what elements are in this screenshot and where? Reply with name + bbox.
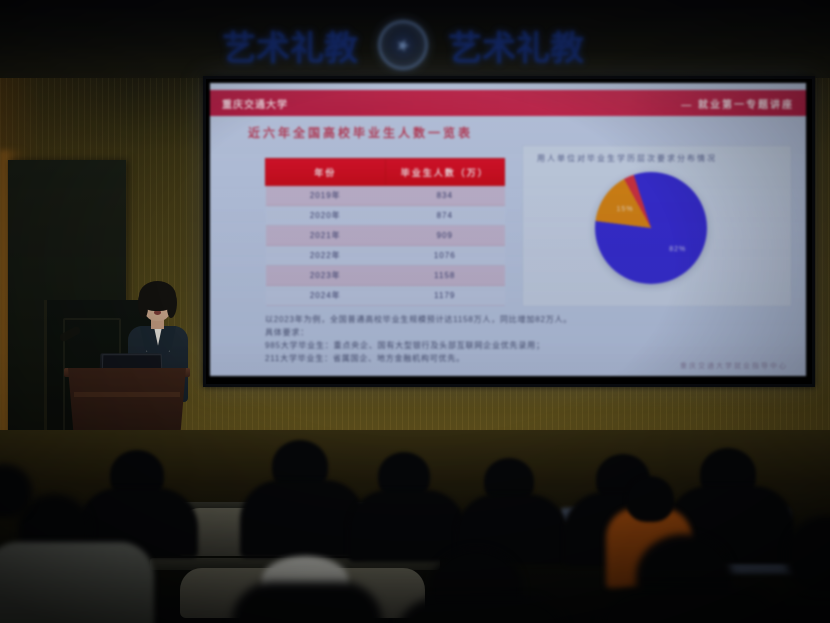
university-seal-icon: [378, 20, 428, 70]
table-row: 2021年 909: [266, 226, 505, 246]
wall-calligraphy: 艺术礼教 艺术礼教: [222, 14, 722, 76]
audience-grey-jacket: [0, 542, 154, 623]
audience-torso-foreground: [600, 588, 780, 623]
table-row: 2023年 1158: [266, 266, 505, 286]
cell-count: 1158: [385, 266, 505, 286]
audience-torso-foreground: [396, 598, 566, 623]
table-row: 2020年 874: [266, 206, 505, 226]
cell-year: 2021年: [266, 226, 386, 246]
speaker-hair-side-right: [167, 292, 177, 318]
cell-year: 2022年: [266, 246, 386, 266]
table-header-count: 毕业生人数（万）: [385, 159, 505, 186]
table-header-year: 年份: [266, 159, 386, 186]
cell-count: 1179: [385, 286, 505, 306]
audience-torso-foreground: [232, 582, 382, 623]
slide-body-text: 以2023年为例，全国普通高校毕业生规模预计达1158万人，同比增加82万人。 …: [265, 313, 765, 365]
table-body: 2019年 834 2020年 874 2021年 909 2022年 1076: [266, 186, 505, 306]
audience-head: [626, 476, 674, 522]
graduates-table: 年份 毕业生人数（万） 2019年 834 2020年 874 2021年: [265, 158, 505, 306]
pie-label-1: 15%: [617, 206, 634, 213]
cell-count: 1076: [385, 246, 505, 266]
pie-chart-title: 用人单位对毕业生学历层次要求分布情况: [537, 153, 717, 164]
cell-year: 2020年: [266, 206, 386, 226]
cell-count: 874: [385, 206, 505, 226]
pie-chart-panel: 用人单位对毕业生学历层次要求分布情况 82% 15%: [522, 145, 792, 307]
slide-banner: 重庆交通大学 — 就业第一专题讲座: [210, 90, 806, 116]
slide-banner-left-text: 重庆交通大学: [222, 96, 288, 111]
slide-footer: 重庆交通大学就业指导中心: [680, 361, 788, 371]
table-row: 2022年 1076: [266, 246, 505, 266]
speaker-hair-side-left: [138, 292, 148, 318]
cell-count: 834: [385, 186, 505, 206]
cell-year: 2024年: [266, 286, 386, 306]
audience-area: [0, 430, 830, 623]
slide-heading: 近六年全国高校毕业生人数一览表: [248, 124, 473, 141]
body-line-1: 以2023年为例，全国普通高校毕业生规模预计达1158万人，同比增加82万人。: [265, 313, 765, 326]
cell-year: 2023年: [266, 266, 386, 286]
slide-banner-right-text: — 就业第一专题讲座: [681, 96, 794, 111]
audience-torso: [240, 480, 365, 558]
table-header-row: 年份 毕业生人数（万）: [266, 159, 505, 186]
audience-torso: [348, 490, 466, 562]
calligraphy-right-text: 艺术礼教: [448, 21, 584, 70]
pie-label-0: 82%: [669, 246, 686, 253]
body-line-2: 具体要求：: [265, 326, 765, 339]
cell-year: 2019年: [266, 186, 386, 206]
body-line-3: 985大学毕业生：重点央企、国有大型银行及头部互联网企业优先录用；: [265, 339, 765, 352]
projection-screen: 重庆交通大学 — 就业第一专题讲座 近六年全国高校毕业生人数一览表 年份 毕业生…: [203, 76, 815, 387]
table-row: 2019年 834: [266, 186, 505, 206]
table-row: 2024年 1179: [266, 286, 505, 306]
calligraphy-left-text: 艺术礼教: [222, 21, 358, 70]
pie-chart: 82% 15%: [595, 172, 707, 284]
lecture-hall-photo: 艺术礼教 艺术礼教 重庆交通大学 — 就业第一专题讲座 近六年全国高校毕业生人数…: [0, 0, 830, 623]
podium-trim: [74, 392, 180, 397]
presentation-slide: 重庆交通大学 — 就业第一专题讲座 近六年全国高校毕业生人数一览表 年份 毕业生…: [210, 83, 806, 376]
cell-count: 909: [385, 226, 505, 246]
